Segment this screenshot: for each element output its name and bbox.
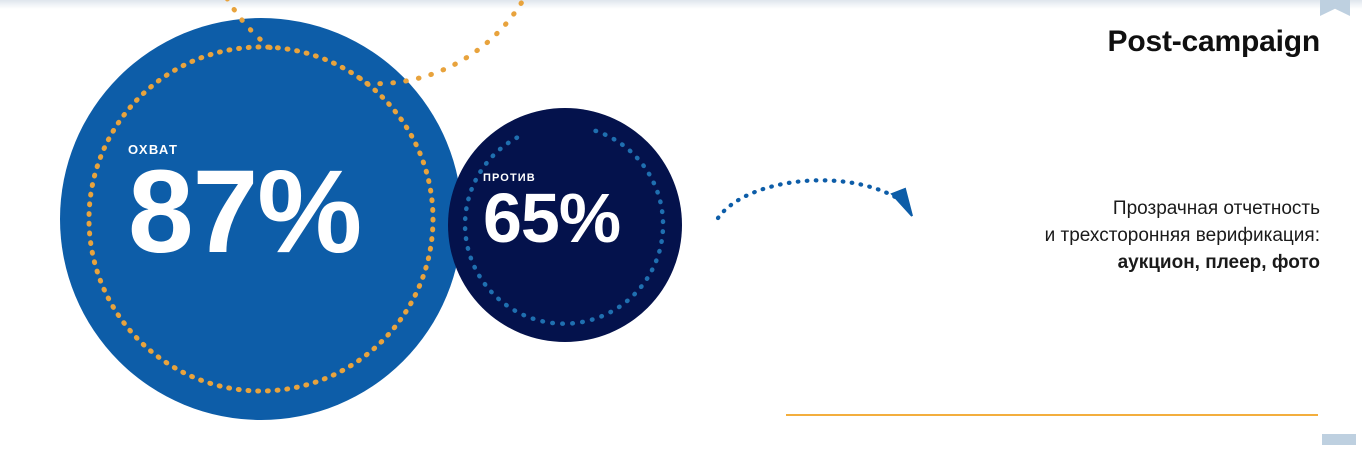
corner-block-marker [1322,434,1356,445]
slide-canvas: ОХВАТ 87% ПРОТИВ 65% Post-campaign Прозр… [0,0,1362,450]
against-stat-value: 65% [483,190,620,247]
reach-stat-value: 87% [128,164,361,261]
callout-text: Прозрачная отчетность и трехсторонняя ве… [900,196,1320,277]
callout-line-2: и трехсторонняя верификация: [900,223,1320,250]
callout-line-1: Прозрачная отчетность [900,196,1320,223]
reach-stat-block: ОХВАТ 87% [128,143,361,261]
top-gradient-band [0,0,1362,9]
callout-line-3: аукцион, плеер, фото [900,250,1320,277]
page-title: Post-campaign [1108,25,1320,59]
against-stat-block: ПРОТИВ 65% [483,173,620,247]
accent-divider [786,414,1318,416]
bookmark-marker-icon [1320,0,1350,16]
